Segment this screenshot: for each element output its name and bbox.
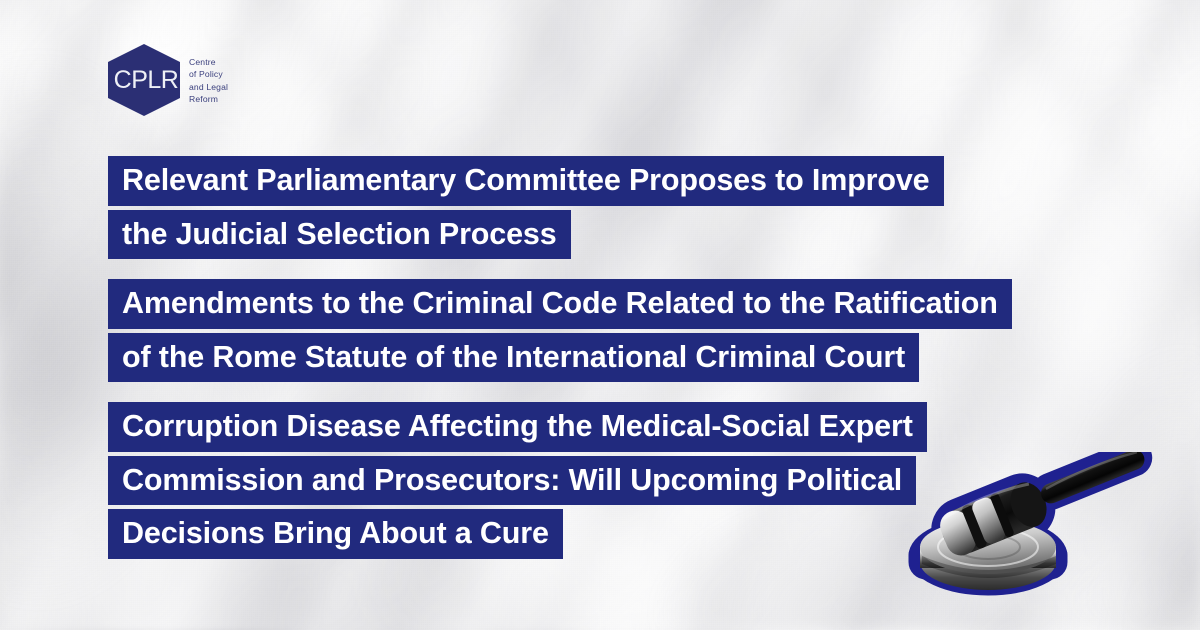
headline-line: Commission and Prosecutors: Will Upcomin…: [108, 456, 916, 506]
headline-line: of the Rome Statute of the International…: [108, 333, 919, 383]
headline-line: Relevant Parliamentary Committee Propose…: [108, 156, 944, 206]
headline-line: Corruption Disease Affecting the Medical…: [108, 402, 927, 452]
cplr-logo: CPLR Centre of Policy and Legal Reform: [108, 44, 228, 116]
headline-line: Decisions Bring About a Cure: [108, 509, 563, 559]
headline-line: Amendments to the Criminal Code Related …: [108, 279, 1012, 329]
logo-hexagon-mark: CPLR: [108, 44, 180, 116]
headline-rome-statute: Amendments to the Criminal Code Related …: [108, 279, 1168, 382]
logo-tagline: Centre of Policy and Legal Reform: [189, 55, 228, 105]
headline-judicial-selection: Relevant Parliamentary Committee Propose…: [108, 156, 1168, 259]
headline-line: the Judicial Selection Process: [108, 210, 571, 260]
social-card-canvas: CPLR Centre of Policy and Legal Reform R…: [0, 0, 1200, 630]
gavel-icon: [892, 452, 1160, 630]
logo-wordmark: CPLR: [114, 68, 179, 93]
